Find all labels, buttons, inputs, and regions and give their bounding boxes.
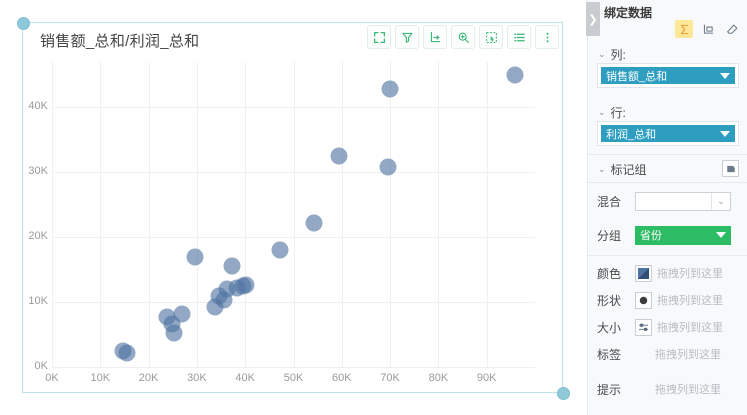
rows-shelf[interactable]: 利润_总和 (597, 121, 739, 146)
chevron-down-icon: ⌄ (598, 49, 606, 60)
x-axis-tick-label: 30K (177, 372, 217, 384)
gridline-vertical (52, 62, 53, 367)
y-axis-tick-label: 0K (8, 360, 48, 372)
columns-section-label: 列: (611, 46, 626, 63)
x-axis-tick-label: 10K (80, 372, 120, 384)
binding-data-panel: ❯ 绑定数据 ⌄ 列: (587, 0, 747, 415)
scatter-point[interactable] (118, 345, 135, 362)
sigma-icon[interactable] (675, 20, 693, 38)
drop-hint: 拖拽列到这里 (657, 292, 723, 308)
marks-row-label: 形状 (597, 292, 635, 309)
drop-hint: 拖拽列到这里 (657, 319, 723, 335)
list-icon[interactable] (507, 25, 531, 49)
marks-row-label-shelf[interactable]: 标签 拖拽列到这里 (597, 343, 743, 365)
marks-row-mix: 混合 ⌄ (597, 190, 743, 212)
size-slider-icon[interactable] (635, 319, 652, 336)
swap-axes-icon[interactable] (423, 25, 447, 49)
marks-row-label: 标签 (597, 346, 635, 363)
scatter-point[interactable] (238, 276, 255, 293)
chevron-down-icon: ⌄ (598, 107, 606, 118)
group-pill-province[interactable]: 省份 (635, 226, 731, 245)
gridline-vertical (390, 62, 391, 367)
drop-hint: 拖拽列到这里 (655, 346, 721, 362)
more-icon[interactable] (535, 25, 559, 49)
marks-section-label: 标记组 (611, 161, 647, 178)
swap-rows-cols-icon[interactable] (699, 20, 717, 38)
marks-card-icon[interactable] (722, 160, 739, 177)
gridline-vertical (342, 62, 343, 367)
columns-shelf[interactable]: 销售额_总和 (597, 63, 739, 88)
marks-row-group: 分组 省份 (597, 224, 743, 246)
divider (588, 154, 747, 155)
rows-section-label: 行: (611, 104, 626, 121)
gridline-vertical (100, 62, 101, 367)
divider (588, 182, 747, 183)
gridline-vertical (487, 62, 488, 367)
y-axis-tick-label: 30K (8, 165, 48, 177)
zoom-in-icon[interactable] (451, 25, 475, 49)
chart-panel: 销售额_总和/利润_总和 (0, 0, 583, 415)
color-swatch-icon[interactable] (635, 265, 652, 282)
scatter-point[interactable] (224, 257, 241, 274)
marks-row-label: 颜色 (597, 265, 635, 282)
column-pill-label: 销售额_总和 (606, 68, 667, 84)
panel-title: 绑定数据 (604, 4, 652, 21)
shape-circle-icon[interactable] (635, 292, 652, 309)
scatter-point[interactable] (381, 81, 398, 98)
column-pill-sales-sum[interactable]: 销售额_总和 (601, 67, 735, 84)
scatter-point[interactable] (306, 214, 323, 231)
mix-select[interactable]: ⌄ (635, 192, 731, 211)
fullscreen-icon[interactable] (367, 25, 391, 49)
gridline-vertical (438, 62, 439, 367)
chevron-down-icon[interactable] (720, 73, 730, 79)
marks-section-header[interactable]: ⌄ 标记组 (598, 161, 647, 178)
scatter-point[interactable] (186, 248, 203, 265)
marks-row-label: 提示 (597, 381, 635, 398)
gridline-vertical (197, 62, 198, 367)
gridline-vertical (245, 62, 246, 367)
scatter-point[interactable] (173, 306, 190, 323)
x-axis-tick-label: 80K (418, 372, 458, 384)
y-axis-tick-label: 10K (8, 295, 48, 307)
chart-toolbar (367, 25, 559, 49)
divider (588, 255, 747, 256)
chart-title: 销售额_总和/利润_总和 (40, 30, 199, 51)
x-axis-tick-label: 20K (129, 372, 169, 384)
row-pill-profit-sum[interactable]: 利润_总和 (601, 125, 735, 142)
marks-row-label: 分组 (597, 227, 635, 244)
scatter-point[interactable] (507, 66, 524, 83)
scatter-point[interactable] (380, 159, 397, 176)
marks-row-shape[interactable]: 形状 拖拽列到这里 (597, 289, 743, 311)
gridline-horizontal (52, 367, 535, 368)
selection-handle-top-left[interactable] (17, 17, 30, 30)
scatter-plot[interactable]: 0K10K20K30K40K0K10K20K30K40K50K60K70K80K… (52, 62, 535, 367)
x-axis-tick-label: 50K (274, 372, 314, 384)
marks-row-color[interactable]: 颜色 拖拽列到这里 (597, 262, 743, 284)
x-axis-tick-label: 70K (370, 372, 410, 384)
y-axis-tick-label: 40K (8, 100, 48, 112)
eraser-icon[interactable] (723, 20, 741, 38)
group-pill-label: 省份 (640, 227, 662, 243)
gridline-vertical (294, 62, 295, 367)
x-axis-tick-label: 40K (225, 372, 265, 384)
x-axis-tick-label: 0K (32, 372, 72, 384)
filter-icon[interactable] (395, 25, 419, 49)
selection-handle-bottom-right[interactable] (557, 387, 570, 400)
row-pill-label: 利润_总和 (606, 126, 656, 142)
chevron-down-icon[interactable] (720, 131, 730, 137)
chevron-down-icon: ⌄ (598, 164, 606, 175)
x-axis-tick-label: 60K (322, 372, 362, 384)
rows-section-header[interactable]: ⌄ 行: (598, 104, 626, 121)
gridline-vertical (149, 62, 150, 367)
panel-tools (675, 20, 741, 38)
marks-row-label: 大小 (597, 319, 635, 336)
chevron-down-icon[interactable] (716, 232, 726, 238)
columns-section-header[interactable]: ⌄ 列: (598, 46, 626, 63)
visualization-editor: 销售额_总和/利润_总和 (0, 0, 747, 415)
marks-row-size[interactable]: 大小 拖拽列到这里 (597, 316, 743, 338)
scatter-point[interactable] (165, 325, 182, 342)
scatter-point[interactable] (331, 148, 348, 165)
marks-row-label: 混合 (597, 193, 635, 210)
chevron-down-icon: ⌄ (712, 196, 730, 207)
panel-collapse-toggle[interactable]: ❯ (586, 2, 600, 36)
x-axis-tick-label: 90K (467, 372, 507, 384)
marks-row-tooltip[interactable]: 提示 拖拽列到这里 (597, 378, 743, 400)
scatter-point[interactable] (272, 242, 289, 259)
marquee-select-icon[interactable] (479, 25, 503, 49)
y-axis-tick-label: 20K (8, 230, 48, 242)
drop-hint: 拖拽列到这里 (655, 381, 721, 397)
drop-hint: 拖拽列到这里 (657, 265, 723, 281)
